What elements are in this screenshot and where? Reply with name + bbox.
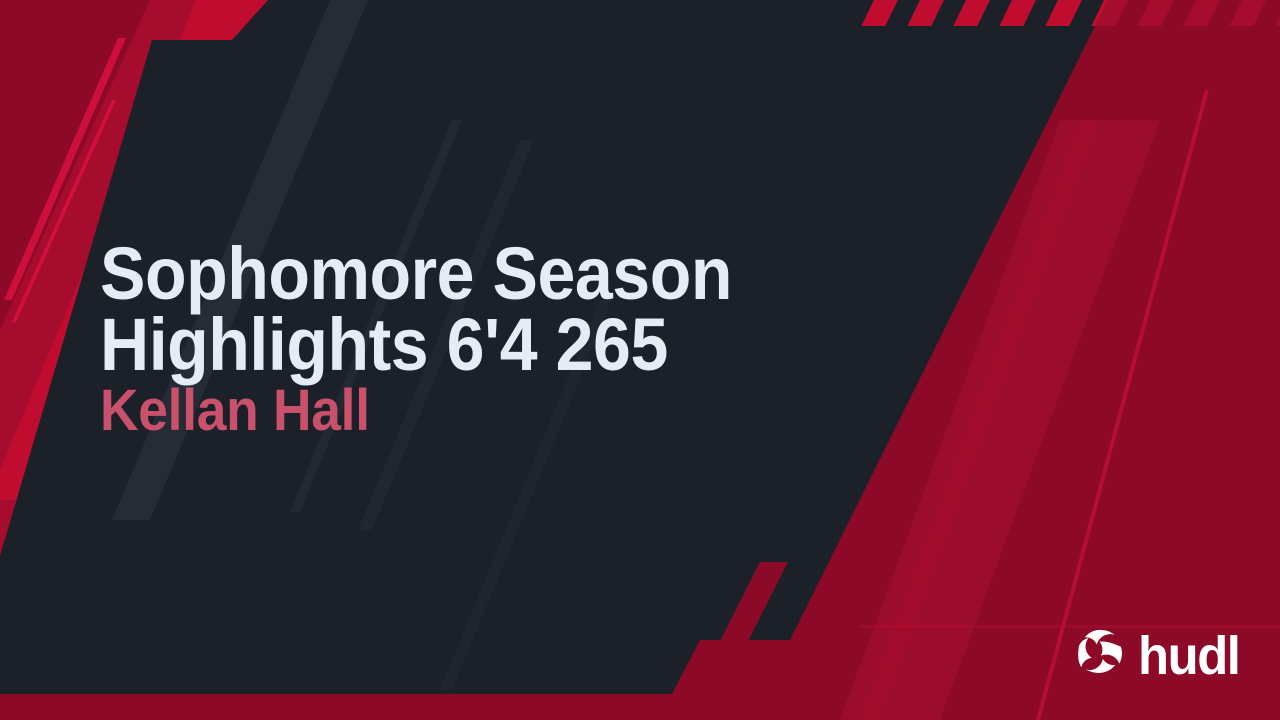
hudl-wordmark: hudl [1138,629,1239,683]
top-right-stripe-band [860,0,1280,26]
background-artwork [0,0,1280,720]
title-card: Sophomore Season Highlights 6'4 265 Kell… [0,0,1280,720]
hudl-pinwheel-icon [1072,625,1128,686]
hudl-logo: hudl [1072,625,1246,686]
bottom-red-field [0,694,1280,720]
